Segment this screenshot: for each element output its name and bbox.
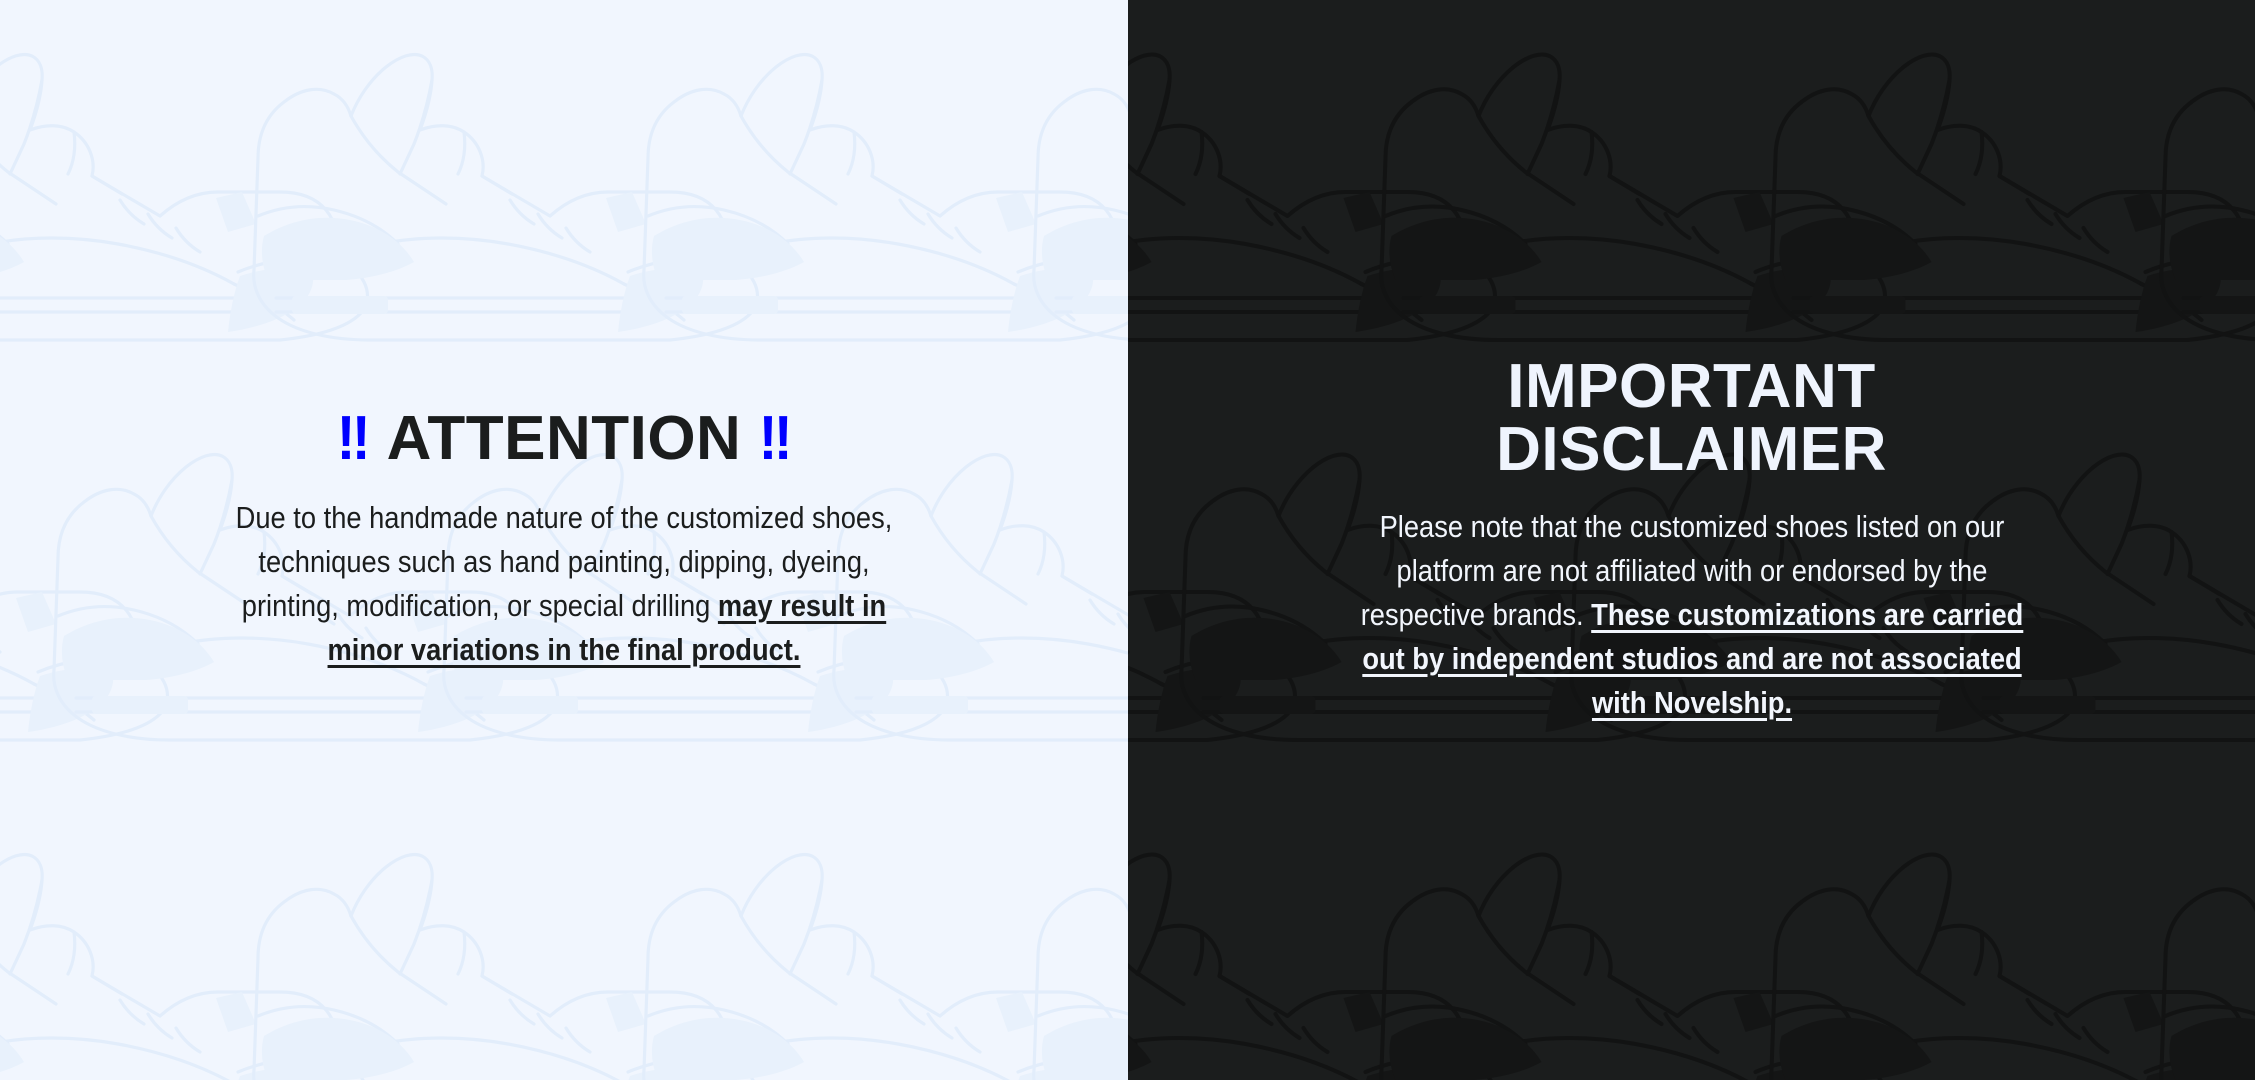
attention-body: Due to the handmade nature of the custom… <box>216 496 911 672</box>
disclaimer-heading-line2: DISCLAIMER <box>1496 415 1887 484</box>
attention-heading: ‼ATTENTION‼ <box>169 408 959 470</box>
disclaimer-panel: IMPORTANTDISCLAIMER Please note that the… <box>1128 0 2255 1080</box>
disclaimer-content: IMPORTANTDISCLAIMER Please note that the… <box>1312 355 2072 726</box>
attention-heading-text: ATTENTION <box>387 404 742 473</box>
disclaimer-heading-line1: IMPORTANT <box>1507 352 1875 421</box>
disclaimer-heading: IMPORTANTDISCLAIMER <box>1312 355 2072 481</box>
attention-panel: ‼ATTENTION‼ Due to the handmade nature o… <box>0 0 1128 1080</box>
attention-content: ‼ATTENTION‼ Due to the handmade nature o… <box>169 408 959 672</box>
disclaimer-banner: ‼ATTENTION‼ Due to the handmade nature o… <box>0 0 2255 1080</box>
double-exclamation-icon-left: ‼ <box>337 408 369 470</box>
disclaimer-body: Please note that the customized shoes li… <box>1357 505 2026 725</box>
double-exclamation-icon-right: ‼ <box>759 408 791 470</box>
